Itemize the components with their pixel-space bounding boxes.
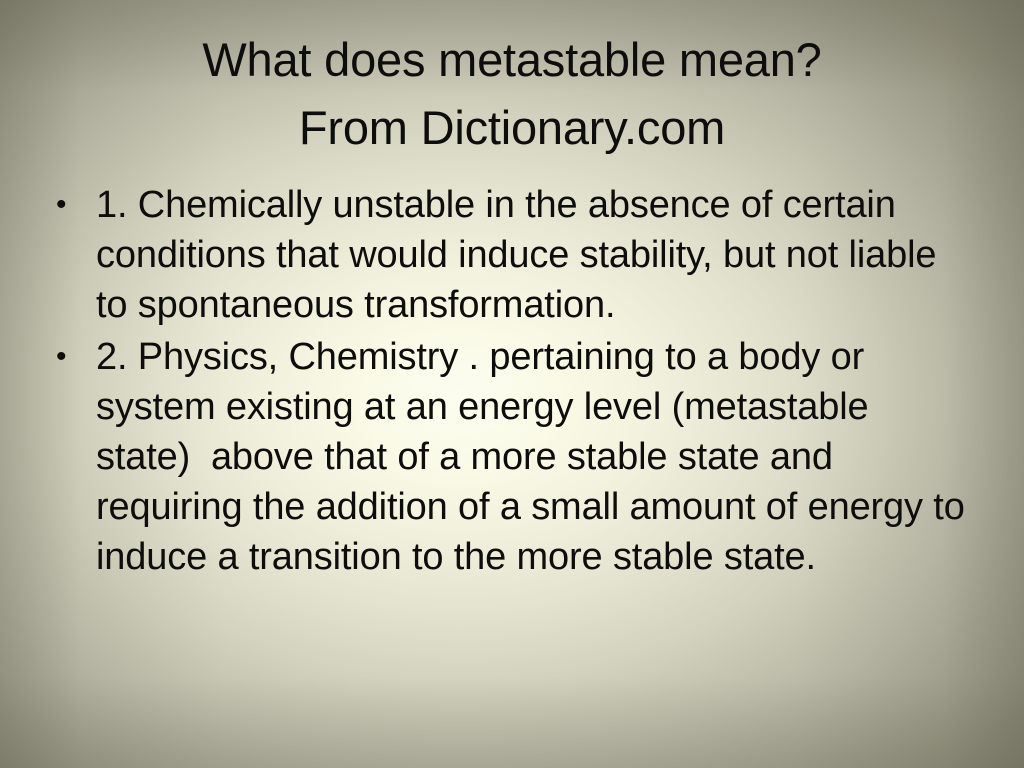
- bullet-text-definition-1: 1. Chemically unstable in the absence of…: [96, 180, 968, 330]
- title-line-2: From Dictionary.com: [0, 94, 1024, 162]
- slide-body-content: • 1. Chemically unstable in the absence …: [56, 180, 968, 584]
- slide-title: What does metastable mean? From Dictiona…: [0, 26, 1024, 162]
- bullet-dot-icon: •: [56, 332, 96, 382]
- bullet-text-definition-2: 2. Physics, Chemistry . pertaining to a …: [96, 332, 968, 582]
- list-item: • 2. Physics, Chemistry . pertaining to …: [56, 332, 968, 582]
- title-line-1: What does metastable mean?: [0, 26, 1024, 94]
- bullet-dot-icon: •: [56, 180, 96, 230]
- list-item: • 1. Chemically unstable in the absence …: [56, 180, 968, 330]
- presentation-slide: What does metastable mean? From Dictiona…: [0, 0, 1024, 768]
